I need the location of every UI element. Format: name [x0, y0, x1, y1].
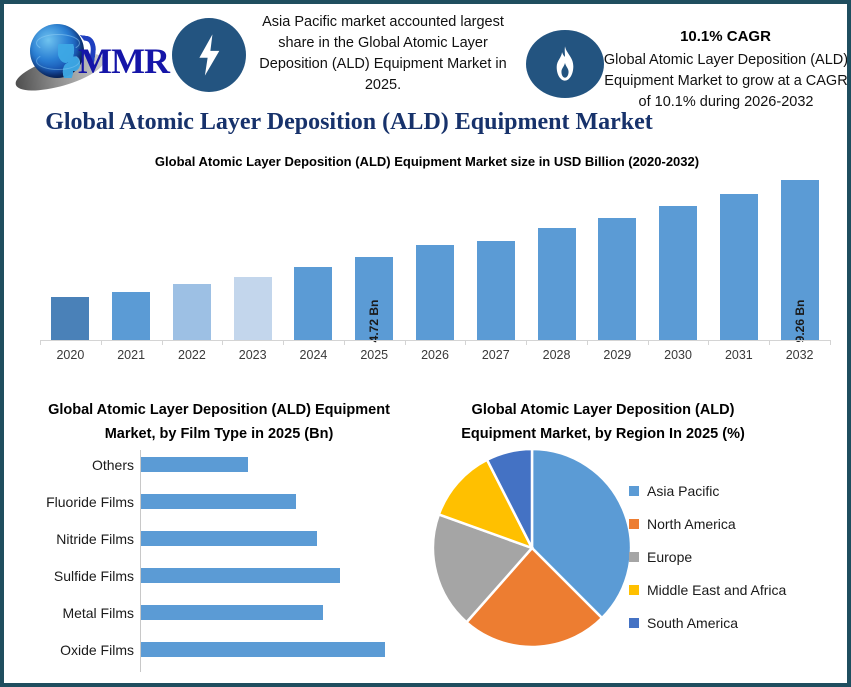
page-title: Global Atomic Layer Deposition (ALD) Equ… — [34, 109, 664, 136]
pie-chart-graphic — [432, 448, 632, 648]
column-x-axis-label: 2030 — [648, 348, 708, 362]
column-x-axis-label: 2023 — [223, 348, 283, 362]
column-bar — [234, 277, 272, 340]
horizontal-bar — [141, 457, 248, 472]
lightning-bolt-icon — [172, 18, 246, 92]
column-chart-axis — [40, 340, 830, 341]
column-x-axis-label: 2022 — [162, 348, 222, 362]
legend-label: Asia Pacific — [647, 483, 719, 499]
legend-item: South America — [629, 606, 849, 639]
header-note-left: Asia Pacific market accounted largest sh… — [252, 12, 514, 96]
legend-label: Middle East and Africa — [647, 582, 786, 598]
infographic-root: MMR Asia Pacific market accounted larges… — [0, 0, 851, 687]
column-bar — [112, 292, 150, 340]
legend-swatch-icon — [629, 486, 639, 496]
column-bar-slot — [465, 166, 526, 340]
horizontal-bar — [141, 568, 340, 583]
column-x-axis-label: 2031 — [709, 348, 769, 362]
legend-swatch-icon — [629, 519, 639, 529]
globe-icon — [30, 24, 84, 78]
column-bar-slot: 9.26 Bn — [769, 166, 830, 340]
axis-tick — [40, 340, 41, 345]
bar-chart-row: Fluoride Films — [10, 487, 424, 524]
legend-swatch-icon — [629, 585, 639, 595]
column-bar-slot — [222, 166, 283, 340]
column-bar — [416, 245, 454, 340]
flame-icon — [526, 30, 604, 98]
column-bar-slot — [587, 166, 648, 340]
column-bar-slot — [162, 166, 223, 340]
horizontal-bar — [141, 494, 296, 509]
axis-tick — [648, 340, 649, 345]
mmr-logo: MMR — [12, 14, 162, 92]
column-bar — [173, 284, 211, 340]
axis-tick — [344, 340, 345, 345]
bar-category-label: Nitride Films — [10, 531, 134, 547]
column-x-axis-label: 2021 — [101, 348, 161, 362]
bar-chart-row: Nitride Films — [10, 524, 424, 561]
axis-tick — [101, 340, 102, 345]
axis-tick — [405, 340, 406, 345]
legend-label: North America — [647, 516, 736, 532]
axis-tick — [465, 340, 466, 345]
market-size-column-chart: Global Atomic Layer Deposition (ALD) Equ… — [22, 152, 834, 377]
logo-text: MMR — [78, 40, 169, 82]
legend-swatch-icon — [629, 618, 639, 628]
horizontal-bar — [141, 605, 323, 620]
column-x-axis-label: 2020 — [40, 348, 100, 362]
legend-label: South America — [647, 615, 738, 631]
cagr-note: Global Atomic Layer Deposition (ALD) Equ… — [602, 50, 850, 113]
axis-tick — [283, 340, 284, 345]
column-bar-value-label: 4.72 Bn — [367, 300, 381, 343]
bar-category-label: Others — [10, 457, 134, 473]
bar-chart-row: Oxide Films — [10, 635, 424, 672]
column-bar-slot — [648, 166, 709, 340]
column-bar: 4.72 Bn — [355, 257, 393, 340]
pie-chart-title: Global Atomic Layer Deposition (ALD) Equ… — [438, 398, 768, 446]
bar-chart-plot: OthersFluoride FilmsNitride FilmsSulfide… — [10, 450, 424, 676]
axis-tick — [830, 340, 831, 345]
column-bar — [538, 228, 576, 340]
column-bar — [51, 297, 89, 340]
bar-chart-row: Others — [10, 450, 424, 487]
pie-chart-legend: Asia PacificNorth AmericaEuropeMiddle Ea… — [629, 474, 849, 639]
legend-item: North America — [629, 507, 849, 540]
legend-item: Asia Pacific — [629, 474, 849, 507]
column-x-axis-label: 2025 — [344, 348, 404, 362]
legend-item: Europe — [629, 540, 849, 573]
bar-category-label: Sulfide Films — [10, 568, 134, 584]
column-bar-slot: 4.72 Bn — [344, 166, 405, 340]
column-x-axis-label: 2032 — [770, 348, 830, 362]
column-x-axis-label: 2024 — [283, 348, 343, 362]
axis-tick — [769, 340, 770, 345]
bar-chart-row: Sulfide Films — [10, 561, 424, 598]
column-bar — [294, 267, 332, 340]
column-bar — [477, 241, 515, 340]
axis-tick — [222, 340, 223, 345]
column-bar — [659, 206, 697, 340]
column-x-axis-label: 2026 — [405, 348, 465, 362]
bar-category-label: Metal Films — [10, 605, 134, 621]
bar-chart-title: Global Atomic Layer Deposition (ALD) Equ… — [44, 398, 394, 446]
column-x-axis-label: 2027 — [466, 348, 526, 362]
column-bar-slot — [405, 166, 466, 340]
column-bar-value-label: 9.26 Bn — [793, 300, 807, 343]
legend-item: Middle East and Africa — [629, 573, 849, 606]
column-bar — [720, 194, 758, 340]
axis-tick — [708, 340, 709, 345]
horizontal-bar — [141, 531, 317, 546]
column-x-axis-label: 2029 — [587, 348, 647, 362]
column-bar: 9.26 Bn — [781, 180, 819, 340]
film-type-bar-chart: Global Atomic Layer Deposition (ALD) Equ… — [10, 396, 424, 681]
legend-label: Europe — [647, 549, 692, 565]
column-x-axis-label: 2028 — [527, 348, 587, 362]
bar-category-label: Oxide Films — [10, 642, 134, 658]
header: MMR Asia Pacific market accounted larges… — [4, 4, 847, 100]
column-bar — [598, 218, 636, 340]
axis-tick — [587, 340, 588, 345]
column-bar-slot — [101, 166, 162, 340]
region-pie-chart: Global Atomic Layer Deposition (ALD) Equ… — [424, 396, 849, 681]
column-chart-plot: 4.72 Bn9.26 Bn — [40, 166, 830, 340]
bar-category-label: Fluoride Films — [10, 494, 134, 510]
axis-tick — [162, 340, 163, 345]
column-bar-slot — [708, 166, 769, 340]
legend-swatch-icon — [629, 552, 639, 562]
horizontal-bar — [141, 642, 385, 657]
axis-tick — [526, 340, 527, 345]
column-bar-slot — [283, 166, 344, 340]
cagr-heading: 10.1% CAGR — [604, 28, 847, 45]
column-bar-slot — [40, 166, 101, 340]
column-bar-slot — [526, 166, 587, 340]
bar-chart-row: Metal Films — [10, 598, 424, 635]
